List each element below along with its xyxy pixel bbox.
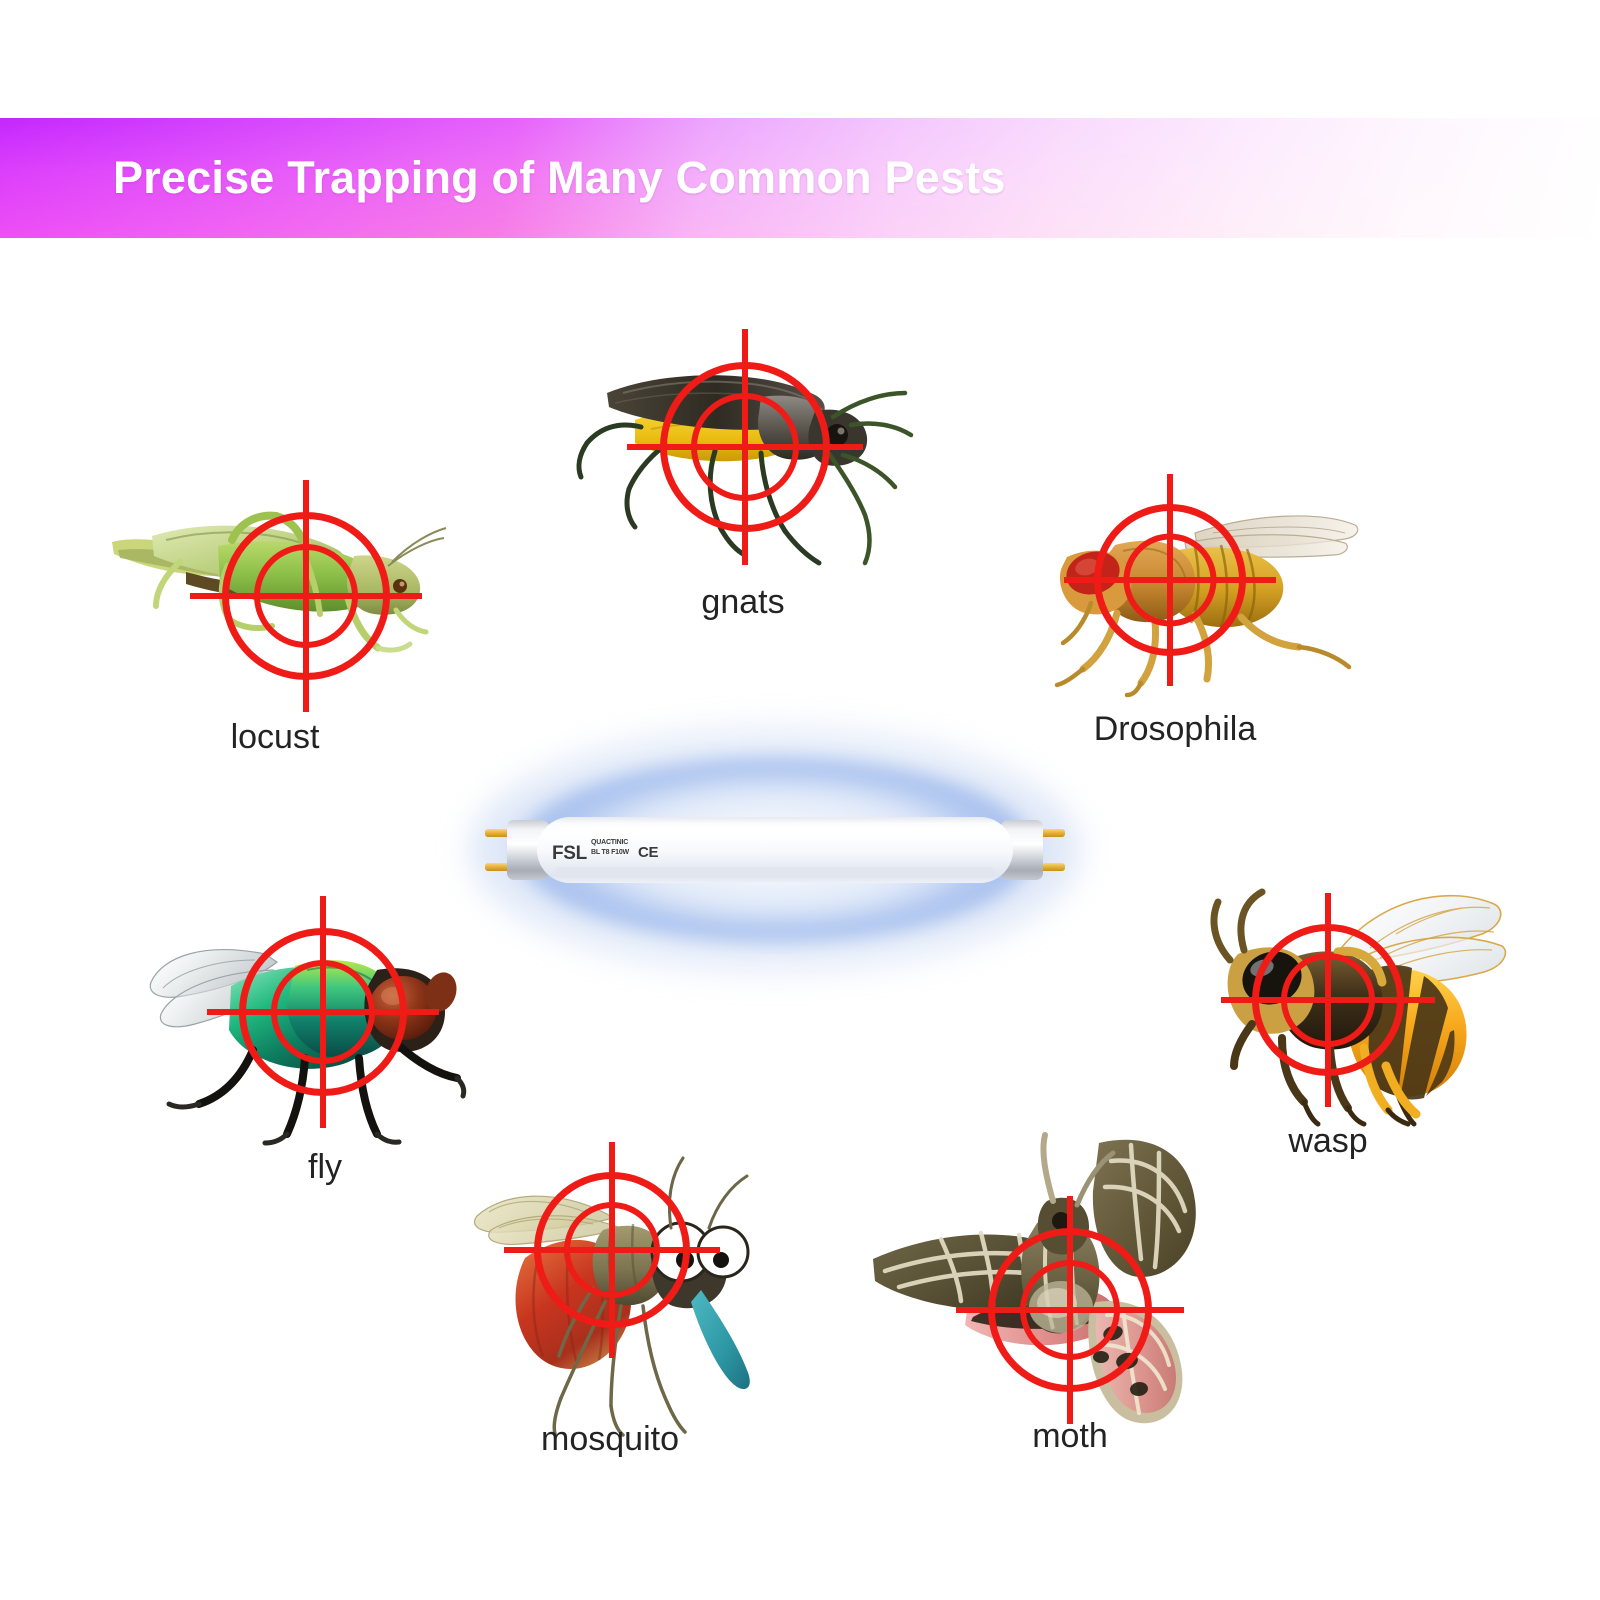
pest-label-locust: locust [231,718,320,757]
pest-label-wasp: wasp [1288,1122,1367,1161]
tube-spec-line-1: QUACTINIC [591,839,628,847]
housefly-icon [145,900,465,1145]
pest-card-wasp: wasp [1210,890,1510,1190]
pest-card-mosquito: mosquito [465,1130,775,1470]
pest-label-drosophila: Drosophila [1094,710,1257,749]
tube-spec-line-2: BL T8 F10W [591,849,629,857]
ce-mark-icon: CE [638,845,658,860]
page-title: Precise Trapping of Many Common Pests [113,152,1006,204]
infographic-canvas: Precise Trapping of Many Common Pests [0,0,1600,1600]
pest-card-drosophila: Drosophila [1045,485,1365,785]
wasp-icon [1210,890,1510,1125]
pest-card-locust: locust [100,480,450,790]
pest-card-fly: fly [145,900,465,1220]
mosquito-icon [465,1130,775,1435]
tube-brand-text: FSL [552,844,587,863]
pest-card-moth: moth [855,1135,1205,1465]
fruit-fly-icon [1045,485,1365,695]
gnat-icon [565,325,925,580]
pest-label-gnats: gnats [701,583,784,622]
header-banner: Precise Trapping of Many Common Pests [0,118,1600,238]
moth-icon [855,1135,1205,1435]
locust-icon [100,480,450,710]
pest-label-moth: moth [1032,1417,1108,1456]
pest-card-gnats: gnats [565,325,925,645]
uv-lamp: FSL QUACTINIC BL T8 F10W CE [470,760,1080,940]
pest-label-fly: fly [308,1148,342,1187]
pest-label-mosquito: mosquito [541,1420,679,1459]
